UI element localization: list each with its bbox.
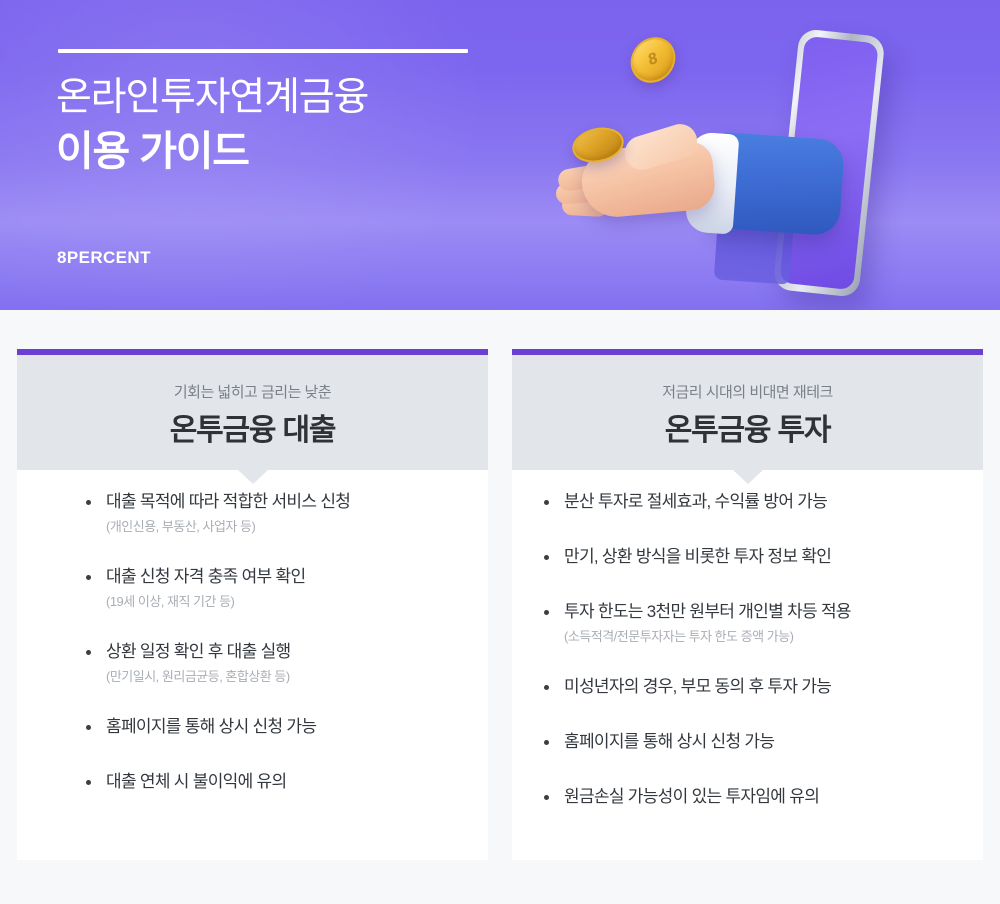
bullet-text: 미성년자의 경우, 부모 동의 후 투자 가능 — [564, 674, 963, 700]
list-item: 만기, 상환 방식을 비롯한 투자 정보 확인 — [512, 544, 983, 570]
hand-phone-coins-illustration: 8 — [540, 0, 1000, 310]
coin-mark-label: 8 — [647, 50, 659, 70]
bullet-dot-icon — [544, 740, 549, 745]
bullet-dot-icon — [86, 575, 91, 580]
list-item: 분산 투자로 절세효과, 수익률 방어 가능 — [512, 489, 983, 515]
bullet-text: 투자 한도는 3천만 원부터 개인별 차등 적용 — [564, 599, 963, 625]
gold-coin-icon: 8 — [627, 31, 680, 88]
list-item: 홈페이지를 통해 상시 신청 가능 — [512, 729, 983, 755]
bullet-subtext: (개인신용, 부동산, 사업자 등) — [106, 516, 468, 538]
card-eyebrow: 기회는 넓히고 금리는 낮춘 — [17, 381, 488, 402]
bullet-dot-icon — [86, 780, 91, 785]
bullet-dot-icon — [86, 725, 91, 730]
list-item: 대출 목적에 따라 적합한 서비스 신청 (개인신용, 부동산, 사업자 등) — [17, 489, 488, 538]
card-bullet-list: 대출 목적에 따라 적합한 서비스 신청 (개인신용, 부동산, 사업자 등) … — [17, 489, 488, 795]
card-bullet-list: 분산 투자로 절세효과, 수익률 방어 가능 만기, 상환 방식을 비롯한 투자… — [512, 489, 983, 810]
bullet-dot-icon — [544, 685, 549, 690]
list-item: 대출 연체 시 불이익에 유의 — [17, 769, 488, 795]
card-title: 온투금융 투자 — [512, 405, 983, 449]
card-header-notch — [238, 470, 268, 484]
bullet-text: 대출 연체 시 불이익에 유의 — [106, 769, 468, 795]
list-item: 상환 일정 확인 후 대출 실행 (만기일시, 원리금균등, 혼합상환 등) — [17, 639, 488, 688]
brand-logo-text: 8PERCENT — [57, 248, 151, 268]
card-header-notch — [733, 470, 763, 484]
list-item: 홈페이지를 통해 상시 신청 가능 — [17, 714, 488, 740]
card-loan: 기회는 넓히고 금리는 낮춘 온투금융 대출 대출 목적에 따라 적합한 서비스… — [17, 349, 488, 860]
cards-section: 기회는 넓히고 금리는 낮춘 온투금융 대출 대출 목적에 따라 적합한 서비스… — [0, 310, 1000, 904]
bullet-text: 홈페이지를 통해 상시 신청 가능 — [106, 714, 468, 740]
hero-title-line2: 이용 가이드 — [56, 126, 249, 176]
bullet-text: 대출 신청 자격 충족 여부 확인 — [106, 564, 468, 590]
list-item: 원금손실 가능성이 있는 투자임에 유의 — [512, 784, 983, 810]
hero-title-line1: 온라인투자연계금융 — [56, 74, 368, 122]
list-item: 미성년자의 경우, 부모 동의 후 투자 가능 — [512, 674, 983, 700]
bullet-text: 만기, 상환 방식을 비롯한 투자 정보 확인 — [564, 544, 963, 570]
bullet-text: 원금손실 가능성이 있는 투자임에 유의 — [564, 784, 963, 810]
bullet-subtext: (19세 이상, 재직 기간 등) — [106, 591, 468, 613]
card-eyebrow: 저금리 시대의 비대면 재테크 — [512, 381, 983, 402]
bullet-text: 홈페이지를 통해 상시 신청 가능 — [564, 729, 963, 755]
bullet-text: 대출 목적에 따라 적합한 서비스 신청 — [106, 489, 468, 515]
bullet-subtext: (소득적격/전문투자자는 투자 한도 증액 가능) — [564, 626, 963, 648]
hero-divider-rule — [58, 49, 468, 53]
bullet-dot-icon — [544, 555, 549, 560]
card-investment: 저금리 시대의 비대면 재테크 온투금융 투자 분산 투자로 절세효과, 수익률… — [512, 349, 983, 860]
card-title: 온투금융 대출 — [17, 405, 488, 449]
bullet-text: 분산 투자로 절세효과, 수익률 방어 가능 — [564, 489, 963, 515]
bullet-subtext: (만기일시, 원리금균등, 혼합상환 등) — [106, 666, 468, 688]
bullet-text: 상환 일정 확인 후 대출 실행 — [106, 639, 468, 665]
bullet-dot-icon — [86, 500, 91, 505]
list-item: 대출 신청 자격 충족 여부 확인 (19세 이상, 재직 기간 등) — [17, 564, 488, 613]
bullet-dot-icon — [86, 650, 91, 655]
list-item: 투자 한도는 3천만 원부터 개인별 차등 적용 (소득적격/전문투자자는 투자… — [512, 599, 983, 648]
bullet-dot-icon — [544, 795, 549, 800]
infographic-page: 온라인투자연계금융 이용 가이드 8PERCENT 8 — [0, 0, 1000, 904]
bullet-dot-icon — [544, 610, 549, 615]
bullet-dot-icon — [544, 500, 549, 505]
hero-banner: 온라인투자연계금융 이용 가이드 8PERCENT 8 — [0, 0, 1000, 310]
